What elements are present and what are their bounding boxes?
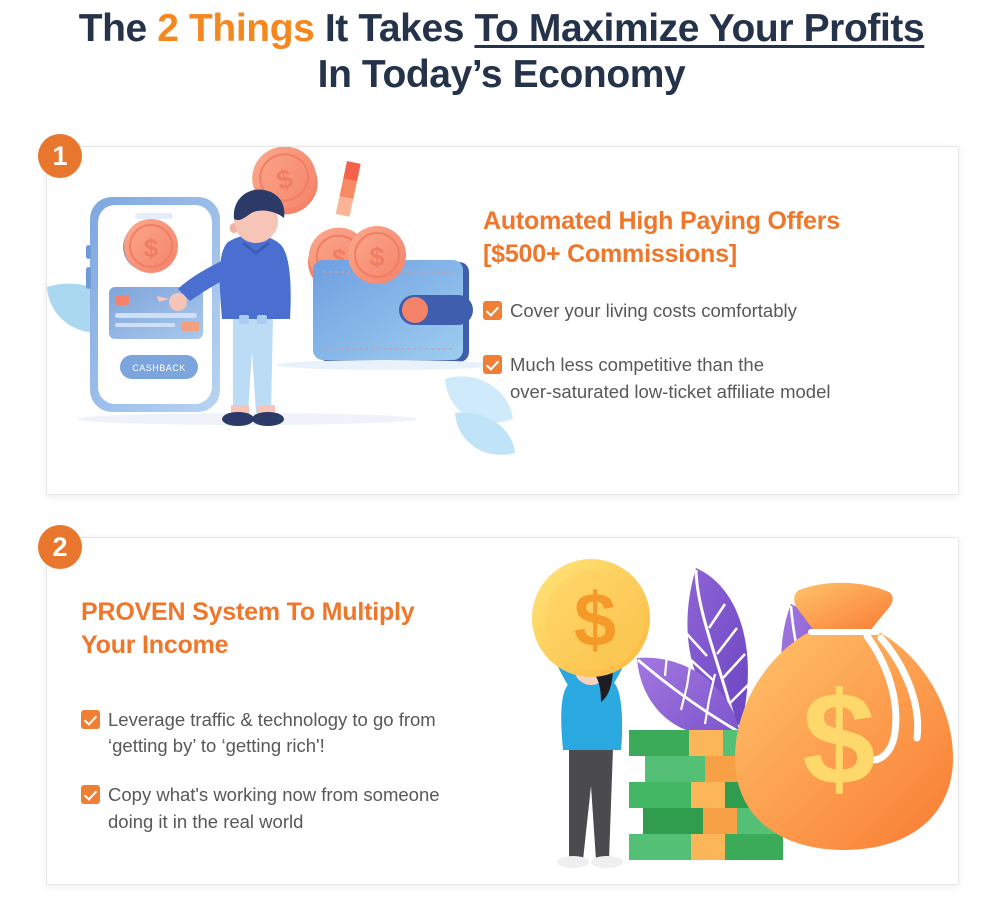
card-2-copy: PROVEN System To Multiply Your Income Le… <box>81 596 521 850</box>
card-1-title: Automated High Paying Offers [$500+ Comm… <box>483 205 943 272</box>
headline-underlined-phrase: To Maximize Your Profits <box>474 7 924 50</box>
card-2-title-line-1: PROVEN System To Multiply <box>81 598 414 626</box>
cashback-phone-illustration: CASHBACK $ $ <box>47 147 517 494</box>
card-2-step-badge: 2 <box>38 525 82 569</box>
money-bag-dollar: $ <box>735 583 953 850</box>
svg-text:$: $ <box>574 578 616 663</box>
bullet-line-2: doing it in the real world <box>108 811 303 832</box>
card-1-step-number: 1 <box>52 143 67 170</box>
headline-text-the: The <box>79 7 158 50</box>
bullet-line-1: Much less competitive than the <box>510 354 764 375</box>
checkbox-checked-icon <box>483 355 502 374</box>
bullet-line-2: over-saturated low-ticket affiliate mode… <box>510 381 830 402</box>
bullet-item: Copy what's working now from someone doi… <box>81 782 521 836</box>
bullet-item: Leverage traffic & technology to go from… <box>81 707 521 761</box>
bullet-line-1: Cover your living costs comfortably <box>510 300 797 321</box>
svg-text:$: $ <box>802 665 875 812</box>
card-2-bullet-list: Leverage traffic & technology to go from… <box>81 707 521 836</box>
svg-text:CASHBACK: CASHBACK <box>132 363 186 373</box>
gold-coin-dollar: $ <box>532 559 650 677</box>
bullet-line-2: ‘getting by’ to ‘getting rich'! <box>108 735 325 756</box>
bullet-item: Cover your living costs comfortably <box>483 298 943 325</box>
coin-dollar: $ <box>348 226 406 284</box>
checkbox-checked-icon <box>81 785 100 804</box>
card-2-title-line-2: Your Income <box>81 631 228 659</box>
bullet-text: Copy what's working now from someone doi… <box>108 782 440 836</box>
svg-text:$: $ <box>144 233 159 263</box>
bullet-line-1: Leverage traffic & technology to go from <box>108 709 436 730</box>
card-2-title: PROVEN System To Multiply Your Income <box>81 596 521 663</box>
money-growth-illustration: $ <box>491 558 958 884</box>
svg-text:$: $ <box>369 242 384 272</box>
checkbox-checked-icon <box>81 710 100 729</box>
headline-text-it-takes: It Takes <box>314 7 474 50</box>
wallet: $ <box>277 226 497 370</box>
bullet-text: Cover your living costs comfortably <box>510 298 797 325</box>
headline-line-1: The 2 Things It Takes To Maximize Your P… <box>0 6 1003 52</box>
headline-highlight-2-things: 2 Things <box>157 7 314 50</box>
card-1-bullet-list: Cover your living costs comfortably Much… <box>483 298 943 406</box>
feature-card-2: PROVEN System To Multiply Your Income Le… <box>46 537 959 885</box>
card-2-step-number: 2 <box>52 534 67 561</box>
feature-card-1: CASHBACK $ $ <box>46 146 959 495</box>
confetti-bar <box>336 161 361 217</box>
cashback-button: CASHBACK <box>120 355 198 379</box>
bullet-text: Leverage traffic & technology to go from… <box>108 707 436 761</box>
card-1-copy: Automated High Paying Offers [$500+ Comm… <box>483 205 943 406</box>
card-1-step-badge: 1 <box>38 134 82 178</box>
page-headline: The 2 Things It Takes To Maximize Your P… <box>0 0 1003 98</box>
card-1-title-line-2: [$500+ Commissions] <box>483 240 737 268</box>
bullet-line-1: Copy what's working now from someone <box>108 784 440 805</box>
headline-line-2: In Today’s Economy <box>0 52 1003 98</box>
smartphone: CASHBACK $ <box>86 197 220 412</box>
card-1-title-line-1: Automated High Paying Offers <box>483 207 840 235</box>
checkbox-checked-icon <box>483 301 502 320</box>
bullet-item: Much less competitive than the over-satu… <box>483 352 943 406</box>
bullet-text: Much less competitive than the over-satu… <box>510 352 830 406</box>
